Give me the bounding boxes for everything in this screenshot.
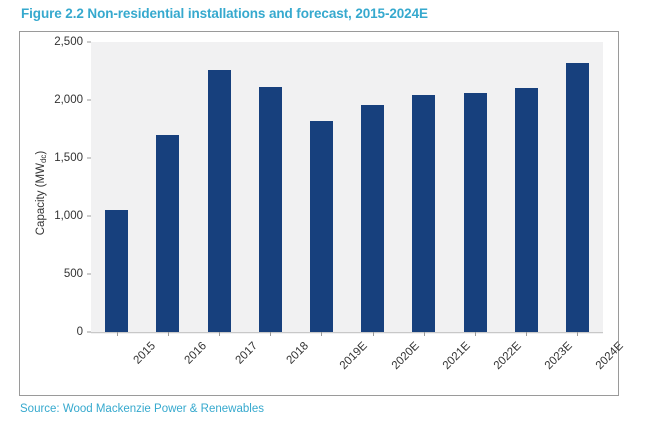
x-tick-label: 2019E bbox=[338, 340, 370, 372]
x-tick-label: 2021E bbox=[441, 340, 473, 372]
y-axis: 05001,0001,5002,0002,500 bbox=[20, 32, 88, 397]
x-tick-mark bbox=[373, 332, 374, 336]
x-tick-mark bbox=[117, 332, 118, 336]
bar[interactable] bbox=[412, 95, 435, 332]
x-tick-label: 2020E bbox=[389, 340, 421, 372]
x-tick-mark bbox=[526, 332, 527, 336]
y-axis-title: Capacity (MWdc) bbox=[35, 93, 47, 293]
x-tick-mark bbox=[219, 332, 220, 336]
bar[interactable] bbox=[566, 63, 589, 332]
y-tick-label: 1,500 bbox=[54, 152, 83, 164]
bar[interactable] bbox=[361, 105, 384, 332]
y-tick-mark bbox=[87, 216, 91, 217]
x-tick-label: 2015 bbox=[131, 340, 158, 367]
bar[interactable] bbox=[310, 121, 333, 332]
x-tick-label: 2024E bbox=[594, 340, 626, 372]
y-tick-label: 2,500 bbox=[54, 36, 83, 48]
y-tick-mark bbox=[87, 274, 91, 275]
bar[interactable] bbox=[259, 87, 282, 332]
x-tick-mark bbox=[270, 332, 271, 336]
x-tick-mark bbox=[475, 332, 476, 336]
y-tick-mark bbox=[87, 100, 91, 101]
figure-container: Figure 2.2 Non-residential installations… bbox=[0, 0, 648, 429]
x-tick-mark bbox=[321, 332, 322, 336]
bar[interactable] bbox=[156, 135, 179, 332]
bar[interactable] bbox=[208, 70, 231, 332]
y-tick-label: 500 bbox=[64, 268, 83, 280]
y-tick-mark bbox=[87, 42, 91, 43]
chart-frame: 05001,0001,5002,0002,500 Capacity (MWdc)… bbox=[19, 31, 619, 396]
source-note: Source: Wood Mackenzie Power & Renewable… bbox=[20, 403, 264, 415]
y-tick-mark bbox=[87, 158, 91, 159]
x-tick-mark bbox=[424, 332, 425, 336]
y-axis-title-subscript: dc bbox=[39, 155, 48, 163]
y-tick-label: 1,000 bbox=[54, 210, 83, 222]
y-tick-mark bbox=[87, 332, 91, 333]
x-tick-mark bbox=[168, 332, 169, 336]
x-tick-label: 2023E bbox=[543, 340, 575, 372]
x-tick-label: 2017 bbox=[233, 340, 260, 367]
bar[interactable] bbox=[515, 88, 538, 332]
x-tick-mark bbox=[577, 332, 578, 336]
y-axis-title-main: Capacity (MW bbox=[35, 163, 47, 235]
bar[interactable] bbox=[105, 210, 128, 332]
x-tick-label: 2016 bbox=[182, 340, 209, 367]
y-tick-label: 0 bbox=[77, 326, 83, 338]
y-tick-label: 2,000 bbox=[54, 94, 83, 106]
bar[interactable] bbox=[464, 93, 487, 332]
x-tick-label: 2018 bbox=[285, 340, 312, 367]
figure-title: Figure 2.2 Non-residential installations… bbox=[21, 6, 428, 21]
x-tick-label: 2022E bbox=[492, 340, 524, 372]
